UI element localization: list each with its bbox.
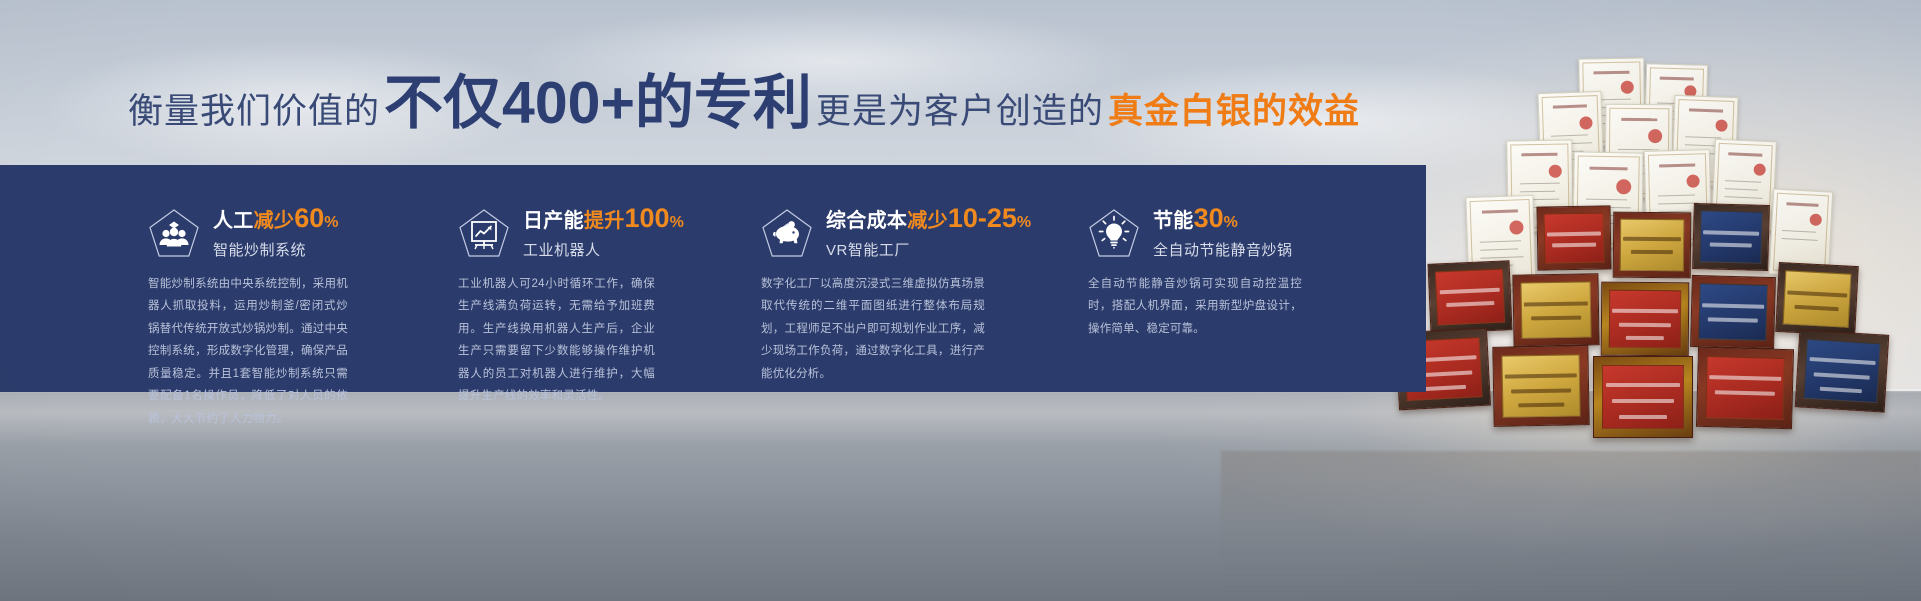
feature-titles: 日产能提升100% 工业机器人 bbox=[523, 204, 684, 259]
award-plaque bbox=[1795, 329, 1890, 412]
feature-item-cost[interactable]: 综合成本减少10-25% VR智能工厂 数字化工厂以高度沉浸式三维虚拟仿真场景取… bbox=[761, 165, 1088, 392]
feature-title: 人工减少60% bbox=[213, 204, 339, 232]
feature-title-number: 30 bbox=[1194, 203, 1224, 233]
award-plaque bbox=[1775, 262, 1859, 336]
feature-title-word: 减少 bbox=[907, 210, 948, 232]
feature-header: 人工减少60% 智能炒制系统 bbox=[148, 165, 458, 251]
feature-title-number: 100 bbox=[625, 203, 670, 233]
headline-highlight: 真金白银的效益 bbox=[1108, 83, 1360, 134]
feature-item-labor[interactable]: 人工减少60% 智能炒制系统 智能炒制系统由中央系统控制，采用机器人抓取投料，运… bbox=[148, 165, 458, 392]
feature-subtitle: 全自动节能静音炒锅 bbox=[1153, 239, 1293, 260]
feature-title-prefix: 节能 bbox=[1153, 210, 1194, 232]
feature-titles: 综合成本减少10-25% VR智能工厂 bbox=[826, 204, 1031, 259]
feature-title-prefix: 日产能 bbox=[523, 210, 584, 232]
feature-body: 智能炒制系统由中央系统控制，采用机器人抓取投料，运用炒制釜/密闭式炒锅替代传统开… bbox=[148, 273, 348, 430]
award-plaque bbox=[1428, 260, 1513, 334]
headline-middle: 更是为客户创造的 bbox=[816, 83, 1104, 134]
lightbulb-icon bbox=[1088, 208, 1140, 258]
award-plaque bbox=[1692, 203, 1770, 271]
feature-title-prefix: 人工 bbox=[213, 210, 254, 232]
piggy-bank-icon bbox=[761, 208, 813, 258]
award-plaque bbox=[1593, 356, 1693, 438]
feature-body: 全自动节能静音炒锅可实现自动控温控时，搭配人机界面，采用新型炉盘设计，操作简单、… bbox=[1088, 273, 1302, 340]
headline-emphasis: 不仅400+的专利 bbox=[384, 74, 812, 133]
chart-board-icon bbox=[458, 208, 510, 258]
feature-subtitle: 智能炒制系统 bbox=[213, 239, 339, 260]
feature-header: 日产能提升100% 工业机器人 bbox=[458, 165, 761, 251]
award-plaque bbox=[1492, 345, 1589, 427]
feature-header: 节能30% 全自动节能静音炒锅 bbox=[1088, 165, 1404, 251]
feature-subtitle: VR智能工厂 bbox=[826, 239, 1031, 260]
feature-title-number: 60 bbox=[294, 203, 324, 233]
award-plaque bbox=[1512, 273, 1599, 346]
feature-title-percent: % bbox=[1224, 214, 1239, 231]
award-plaque bbox=[1601, 282, 1690, 357]
feature-header: 综合成本减少10-25% VR智能工厂 bbox=[761, 165, 1088, 251]
feature-title-word: 减少 bbox=[254, 210, 295, 232]
award-plaque bbox=[1613, 212, 1692, 279]
feature-title: 综合成本减少10-25% bbox=[826, 204, 1031, 232]
feature-title-percent: % bbox=[1017, 214, 1032, 231]
feature-item-capacity[interactable]: 日产能提升100% 工业机器人 工业机器人可24小时循环工作，确保生产线满负荷运… bbox=[458, 165, 761, 392]
award-plaque bbox=[1690, 275, 1776, 349]
award-plaque bbox=[1536, 205, 1611, 270]
award-plaque bbox=[1696, 347, 1794, 429]
feature-list: 人工减少60% 智能炒制系统 智能炒制系统由中央系统控制，采用机器人抓取投料，运… bbox=[148, 165, 1404, 392]
feature-item-energy[interactable]: 节能30% 全自动节能静音炒锅 全自动节能静音炒锅可实现自动控温控时，搭配人机界… bbox=[1088, 165, 1404, 392]
feature-subtitle: 工业机器人 bbox=[523, 239, 684, 260]
feature-panel: 人工减少60% 智能炒制系统 智能炒制系统由中央系统控制，采用机器人抓取投料，运… bbox=[0, 165, 1426, 392]
banner-stage: 衡量我们价值的 不仅400+的专利 更是为客户创造的 真金白银的效益 bbox=[0, 0, 1921, 601]
headline-lead: 衡量我们价值的 bbox=[128, 83, 380, 134]
feature-title-prefix: 综合成本 bbox=[826, 210, 907, 232]
feature-titles: 人工减少60% 智能炒制系统 bbox=[213, 204, 339, 259]
feature-titles: 节能30% 全自动节能静音炒锅 bbox=[1153, 204, 1293, 259]
feature-title: 日产能提升100% bbox=[523, 204, 684, 232]
feature-title-percent: % bbox=[670, 214, 685, 231]
feature-title-percent: % bbox=[324, 214, 339, 231]
feature-body: 数字化工厂以高度沉浸式三维虚拟仿真场景取代传统的二维平面图纸进行整体布局规划，工… bbox=[761, 273, 985, 385]
people-group-icon bbox=[148, 208, 200, 258]
feature-title-word: 提升 bbox=[584, 210, 625, 232]
feature-title-number: 10-25 bbox=[948, 203, 1017, 233]
feature-body: 工业机器人可24小时循环工作，确保生产线满负荷运转，无需给予加班费用。生产线换用… bbox=[458, 273, 655, 408]
feature-title: 节能30% bbox=[1153, 204, 1293, 232]
headline: 衡量我们价值的 不仅400+的专利 更是为客户创造的 真金白银的效益 bbox=[128, 74, 1360, 134]
